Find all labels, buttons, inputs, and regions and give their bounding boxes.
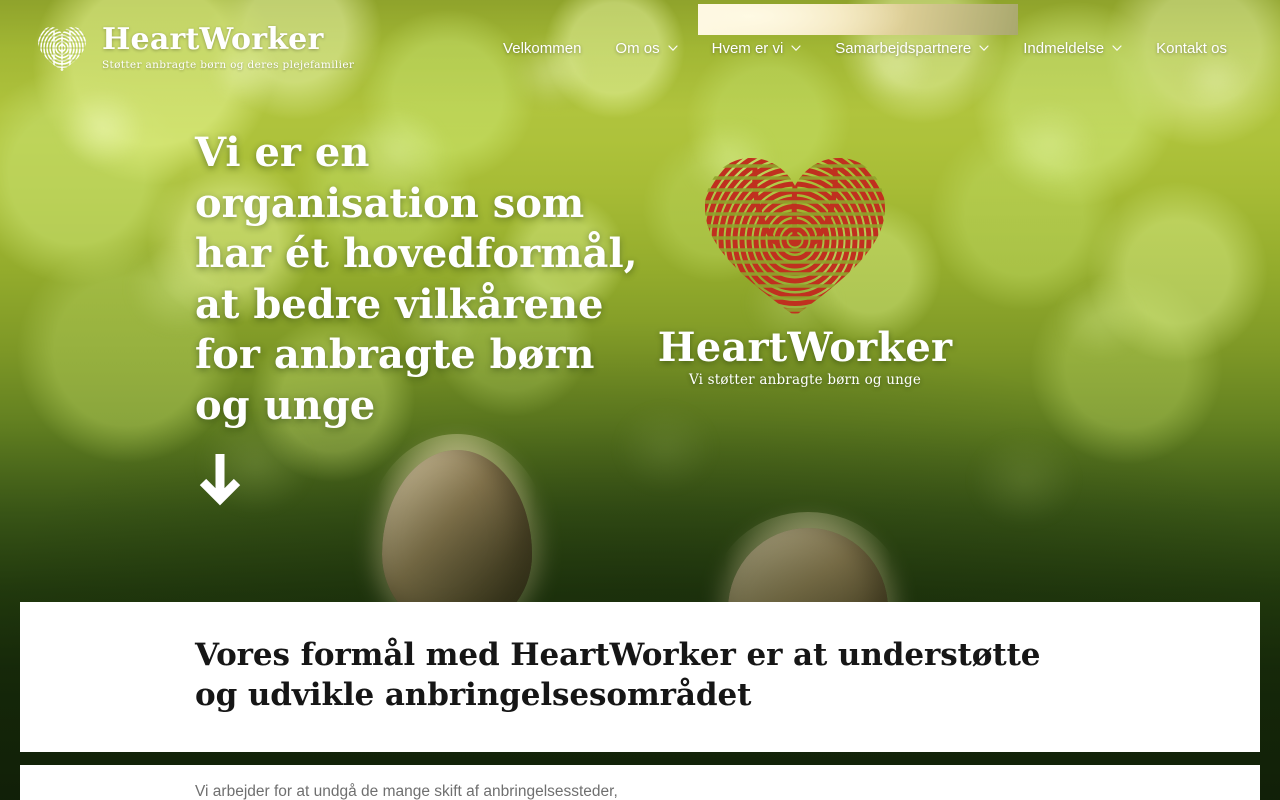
nav-item-om-os[interactable]: Om os	[598, 33, 694, 64]
chevron-down-icon	[791, 43, 801, 53]
purpose-heading: Vores formål med HeartWorker er at under…	[195, 635, 1055, 715]
nav-item-label: Samarbejdspartnere	[835, 41, 971, 56]
nav-item-samarbejdspartnere[interactable]: Samarbejdspartnere	[818, 33, 1006, 64]
site-header: HeartWorker Støtter anbragte børn og der…	[0, 0, 1280, 96]
intro-section: Vi arbejder for at undgå de mange skift …	[20, 765, 1260, 800]
page-root: HeartWorker Støtter anbragte børn og der…	[0, 0, 1280, 800]
purpose-card: Vores formål med HeartWorker er at under…	[20, 602, 1260, 752]
nav-item-velkommen[interactable]: Velkommen	[486, 33, 598, 64]
nav-item-label: Kontakt os	[1156, 41, 1227, 56]
nav-item-label: Hvem er vi	[712, 41, 784, 56]
arrow-down-icon[interactable]	[196, 452, 244, 508]
main-navigation: Velkommen Om os Hvem er vi Samarbejdspar…	[486, 33, 1244, 64]
nav-item-label: Velkommen	[503, 41, 581, 56]
intro-paragraph: Vi arbejder for at undgå de mange skift …	[195, 781, 665, 800]
nav-item-label: Indmeldelse	[1023, 41, 1104, 56]
brand-name: HeartWorker	[102, 25, 354, 56]
brand-logo-link[interactable]: HeartWorker Støtter anbragte børn og der…	[34, 22, 354, 74]
brand-text-block: HeartWorker Støtter anbragte børn og der…	[102, 25, 354, 71]
hero-logo-block: HeartWorker Vi støtter anbragte børn og …	[640, 148, 970, 396]
chevron-down-icon	[1112, 43, 1122, 53]
nav-item-indmeldelse[interactable]: Indmeldelse	[1006, 33, 1139, 64]
hero-headline: Vi er en organisation som har ét hovedfo…	[195, 128, 645, 431]
fingerprint-heart-icon	[34, 22, 90, 74]
nav-item-kontakt-os[interactable]: Kontakt os	[1139, 33, 1244, 64]
chevron-down-icon	[979, 43, 989, 53]
nav-item-label: Om os	[615, 41, 659, 56]
fingerprint-heart-icon	[695, 148, 895, 320]
hero-logo-name: HeartWorker	[640, 328, 970, 368]
chevron-down-icon	[668, 43, 678, 53]
hero-logo-tagline: Vi støtter anbragte børn og unge	[640, 372, 970, 388]
brand-tagline: Støtter anbragte børn og deres plejefami…	[102, 59, 354, 71]
nav-item-hvem-er-vi[interactable]: Hvem er vi	[695, 33, 819, 64]
